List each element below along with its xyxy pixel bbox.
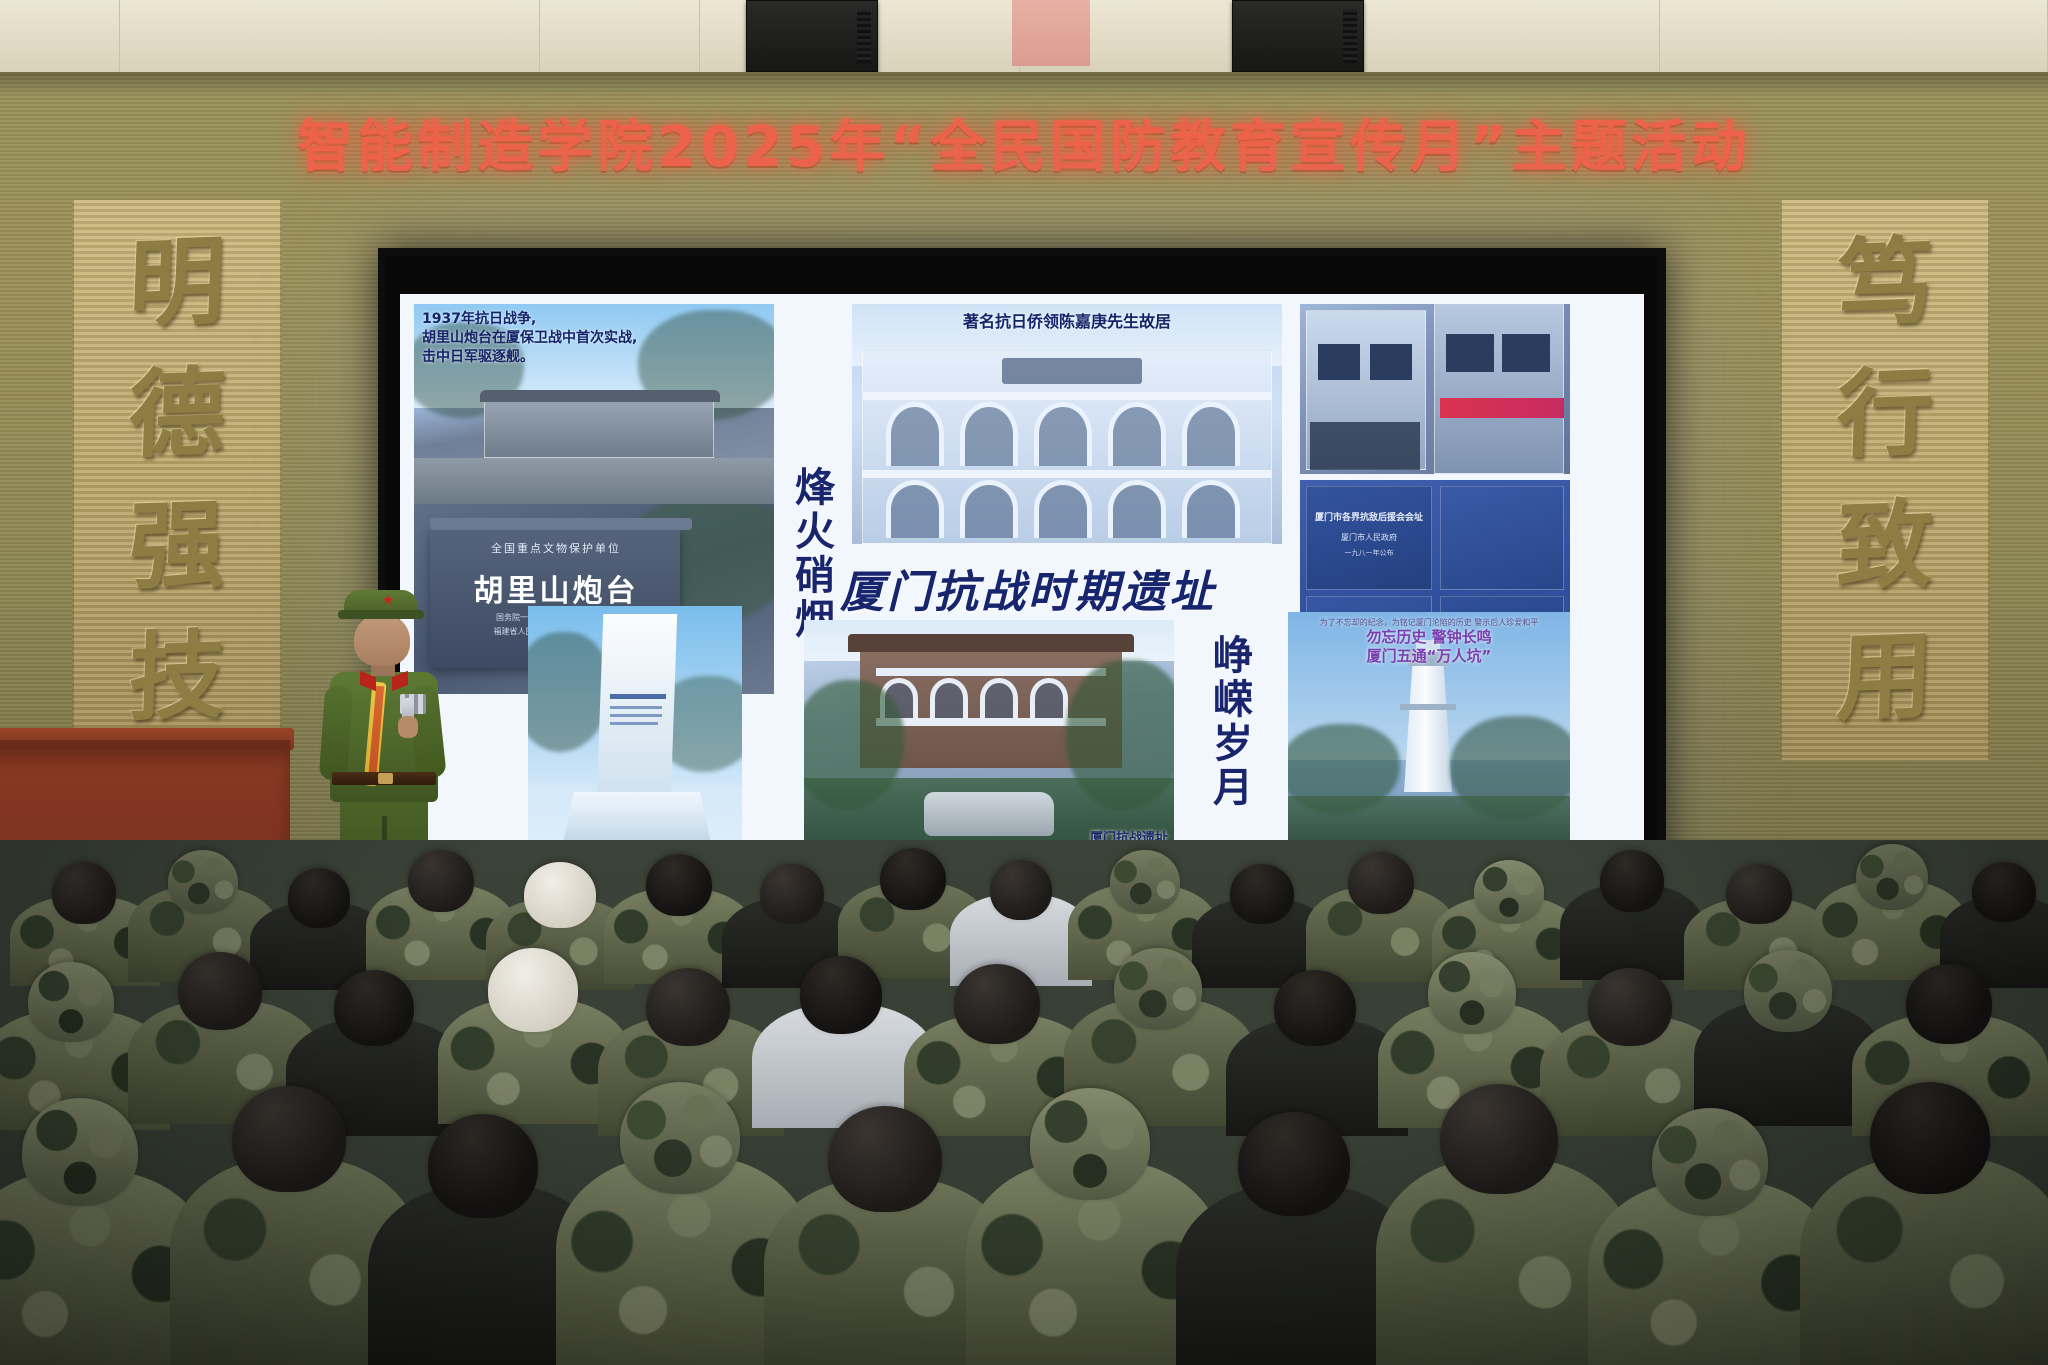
audience-head <box>1906 964 1992 1044</box>
plaque-small-top: 全国重点文物保护单位 <box>444 540 668 556</box>
audience-head <box>880 848 946 910</box>
ceiling-speaker-right <box>1232 0 1364 72</box>
lighthouse-caption-line1: 勿忘历史 警钟长鸣 <box>1366 628 1491 646</box>
audience-head <box>1274 970 1356 1046</box>
slide-photo-villa: 厦门抗战遗址 <box>804 620 1174 850</box>
audience-head <box>646 968 730 1046</box>
calligraphy-char: 行 <box>1835 365 1935 464</box>
lighthouse-caption-line2: 厦门五通“万人坑” <box>1367 647 1492 665</box>
calligraphy-char: 德 <box>127 365 227 464</box>
wall-calligraphy-left: 明 德 强 技 <box>72 200 282 760</box>
audience-head <box>488 948 578 1032</box>
calligraphy-char: 技 <box>127 627 227 726</box>
audience-head <box>1238 1112 1350 1216</box>
audience-head <box>760 864 824 924</box>
audience-head <box>1030 1088 1150 1200</box>
slide-vertical-text-right: 峥嵘岁月 <box>1200 634 1258 810</box>
audience-head <box>168 850 238 914</box>
slide-caption-fort: 1937年抗日战争, 胡里山炮台在厦保卫战中首次实战, 击中日军驱逐舰。 <box>422 310 766 367</box>
projection-screen: 1937年抗日战争, 胡里山炮台在厦保卫战中首次实战, 击中日军驱逐舰。 全国重… <box>378 248 1666 888</box>
audience-head <box>1588 968 1672 1046</box>
wall-top-shadow <box>0 72 2048 96</box>
audience <box>0 840 2048 1365</box>
audience-head <box>524 862 596 928</box>
calligraphy-char: 强 <box>127 496 227 595</box>
wall-calligraphy-right: 笃 行 致 用 <box>1780 200 1990 760</box>
audience-head <box>1726 864 1792 924</box>
slide-photo-old-street <box>1300 304 1570 474</box>
plaque-main-text: 胡里山炮台 <box>444 566 668 610</box>
slide-photo-huli-shan-fort: 1937年抗日战争, 胡里山炮台在厦保卫战中首次实战, 击中日军驱逐舰。 <box>414 304 774 504</box>
lighthouse-caption-small: 为了不忘却的纪念，为铭记厦门沦陷的历史 警示后人珍爱和平 <box>1288 618 1570 628</box>
audience-head <box>1474 860 1544 924</box>
audience-head <box>178 952 262 1030</box>
slide-photo-monument: 厦门抗日纪念碑 <box>528 606 742 854</box>
slide-photo-chen-jiageng-residence: 著名抗日侨领陈嘉庚先生故居 <box>852 304 1282 544</box>
audience-head <box>990 860 1052 920</box>
audience-head <box>288 868 350 928</box>
event-banner: 智能制造学院2025年“全民国防教育宣传月”主题活动 <box>0 96 2048 188</box>
audience-head <box>828 1106 942 1212</box>
audience-head <box>1856 844 1928 910</box>
audience-head <box>52 862 116 924</box>
audience-head <box>800 956 882 1034</box>
plaque-right-text: 厦门市各界抗敌后援会会址 <box>1310 510 1428 523</box>
slide-main-title: 厦门抗战时期遗址 <box>840 556 1216 620</box>
audience-head <box>1348 852 1414 914</box>
audience-head <box>646 854 712 916</box>
audience-head <box>408 850 474 912</box>
plaque-right-text: 一九八一年公布 <box>1310 548 1428 558</box>
audience-head <box>334 970 414 1046</box>
audience-head <box>1972 862 2036 922</box>
slide-vertical-text-left: 烽火硝烟 <box>782 466 840 642</box>
calligraphy-char: 笃 <box>1835 234 1935 333</box>
audience-head <box>620 1082 740 1194</box>
audience-head <box>954 964 1040 1044</box>
audience-head <box>1440 1084 1558 1194</box>
audience-head <box>1110 850 1180 914</box>
plaque-right-text: 厦门市人民政府 <box>1310 532 1428 543</box>
ceiling-speaker-left <box>746 0 878 72</box>
calligraphy-char: 用 <box>1835 627 1935 726</box>
presentation-slide: 1937年抗日战争, 胡里山炮台在厦保卫战中首次实战, 击中日军驱逐舰。 全国重… <box>400 294 1644 854</box>
audience-head <box>428 1114 538 1218</box>
presenter-face <box>354 614 410 666</box>
audience-head <box>1230 864 1294 924</box>
ceiling <box>0 0 2048 78</box>
calligraphy-char: 致 <box>1835 496 1935 595</box>
ceiling-accent-panel <box>1012 0 1090 66</box>
audience-head <box>1600 850 1664 912</box>
projection-screen-surface: 1937年抗日战争, 胡里山炮台在厦保卫战中首次实战, 击中日军驱逐舰。 全国重… <box>400 294 1644 854</box>
event-banner-text: 智能制造学院2025年“全民国防教育宣传月”主题活动 <box>297 102 1750 183</box>
auditorium-photo: 智能制造学院2025年“全民国防教育宣传月”主题活动 明 德 强 技 笃 行 致… <box>0 0 2048 1365</box>
audience-head <box>1652 1108 1768 1216</box>
slide-caption-lighthouse: 为了不忘却的纪念，为铭记厦门沦陷的历史 警示后人珍爱和平 勿忘历史 警钟长鸣 厦… <box>1288 618 1570 666</box>
audience-head <box>1428 952 1516 1034</box>
audience-head <box>1114 948 1202 1030</box>
slide-caption-residence: 著名抗日侨领陈嘉庚先生故居 <box>852 308 1282 332</box>
audience-head <box>1744 950 1832 1032</box>
audience-head <box>22 1098 138 1206</box>
slide-photo-lighthouse: 为了不忘却的纪念，为铭记厦门沦陷的历史 警示后人珍爱和平 勿忘历史 警钟长鸣 厦… <box>1288 612 1570 850</box>
audience-head <box>232 1086 346 1192</box>
audience-head <box>28 962 114 1042</box>
calligraphy-char: 明 <box>127 234 227 333</box>
audience-head <box>1870 1082 1990 1194</box>
